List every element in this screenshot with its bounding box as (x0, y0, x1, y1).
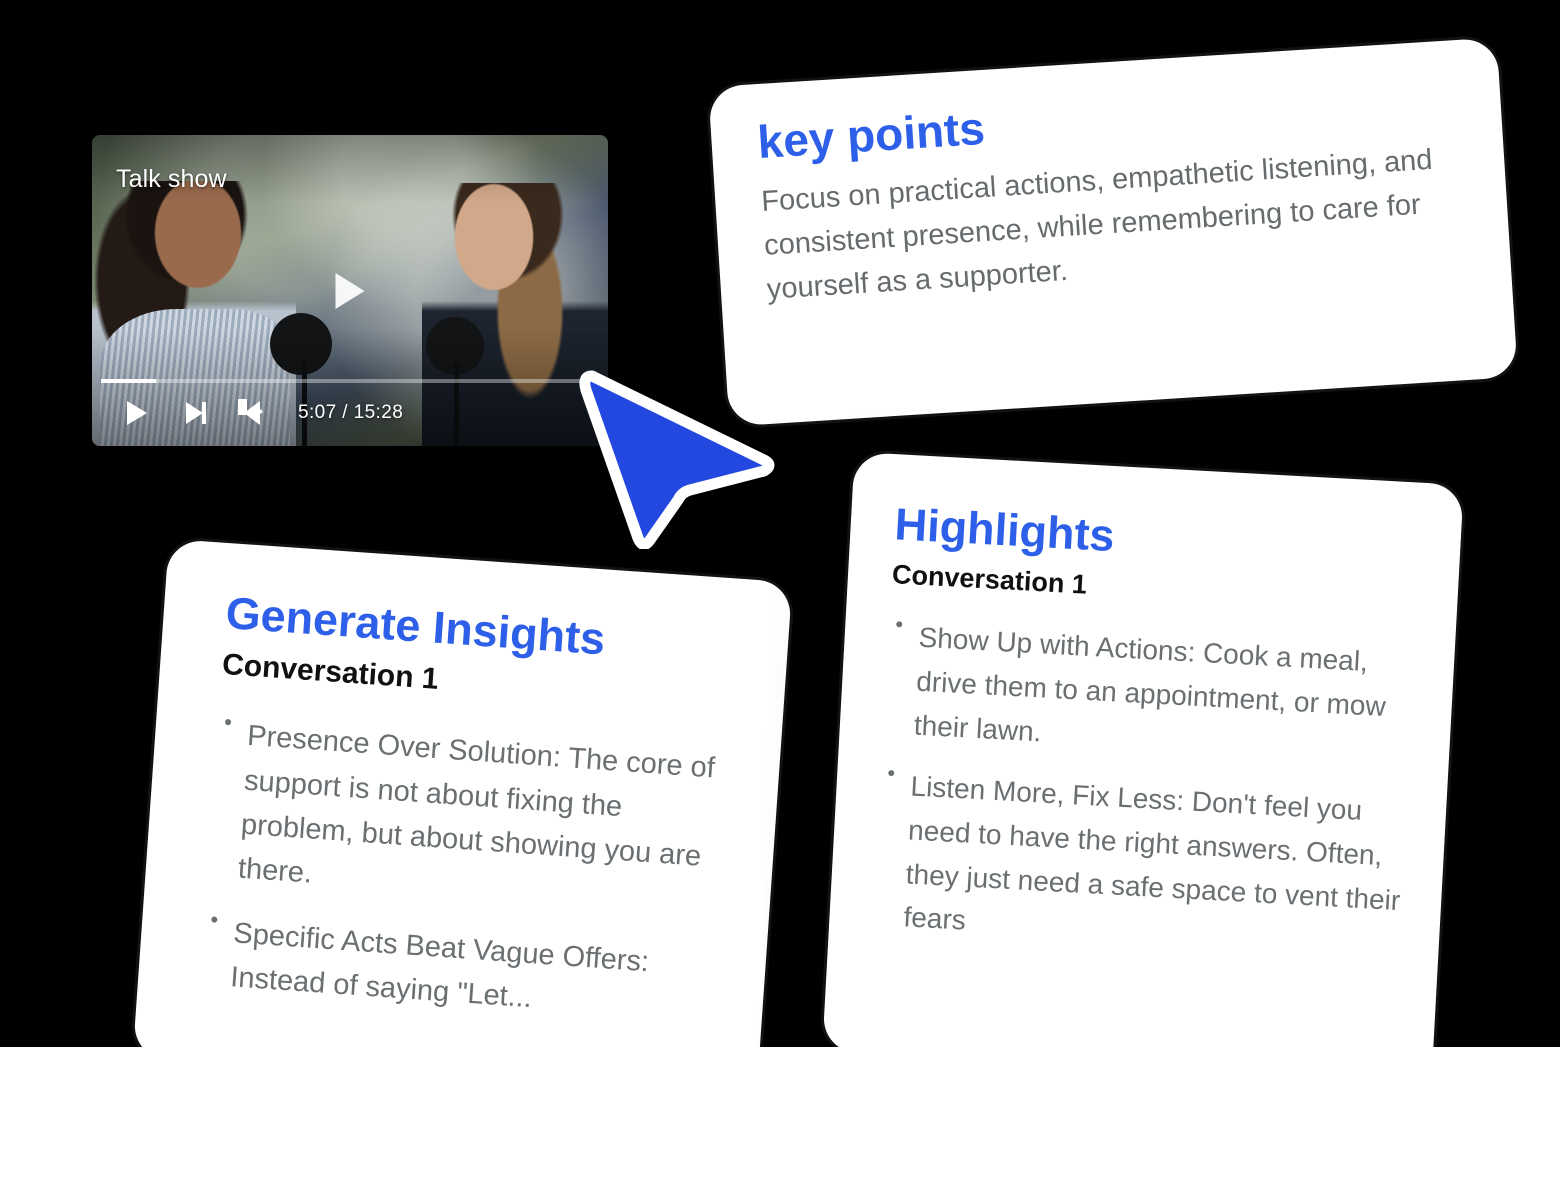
video-controls-bar: 5:07 / 15:28 (92, 392, 608, 434)
skip-next-icon[interactable] (166, 395, 222, 431)
center-play-icon[interactable] (336, 273, 365, 309)
card-highlights[interactable]: Highlights Conversation 1 Show Up with A… (822, 452, 1464, 1084)
list-item: Presence Over Solution: The core of supp… (207, 712, 741, 925)
list-item: Listen More, Fix Less: Don't feel you ne… (872, 763, 1413, 966)
generate-insights-bullet-list: Presence Over Solution: The core of supp… (199, 712, 741, 1034)
play-icon[interactable] (108, 395, 166, 431)
volume-icon[interactable] (222, 395, 280, 431)
card-generate-insights[interactable]: Generate Insights Conversation 1 Presenc… (133, 539, 793, 1101)
video-time-display: 5:07 / 15:28 (298, 402, 403, 424)
card-key-points[interactable]: key points Focus on practical actions, e… (708, 38, 1518, 427)
list-item: Specific Acts Beat Vague Offers: Instead… (199, 909, 727, 1034)
video-progress-scrubber[interactable] (101, 379, 599, 383)
video-progress-fill (101, 379, 156, 383)
highlights-bullet-list: Show Up with Actions: Cook a meal, drive… (872, 614, 1421, 966)
key-points-body: Focus on practical actions, empathetic l… (760, 137, 1463, 313)
video-player[interactable]: Talk show 5:07 / 15:28 (92, 135, 608, 446)
page-fold-mask (0, 1047, 1560, 1197)
list-item: Show Up with Actions: Cook a meal, drive… (883, 614, 1421, 774)
video-title: Talk show (116, 165, 227, 194)
screenshot-stage: Talk show 5:07 / 15:28 key points Focus … (0, 0, 1560, 1197)
